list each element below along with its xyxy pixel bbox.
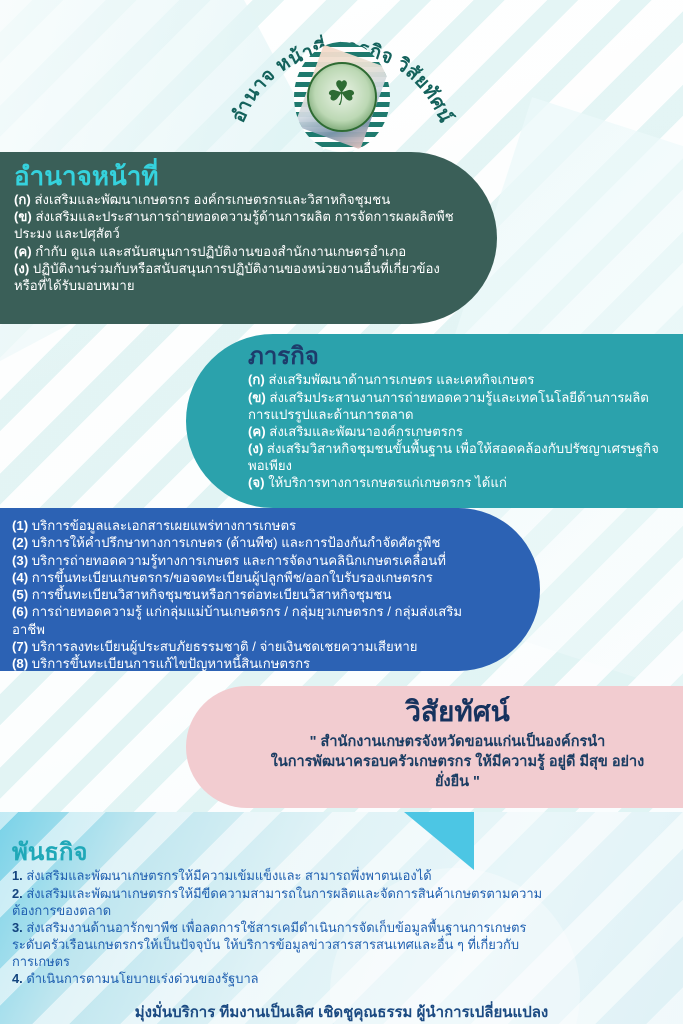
mission-item-marker: (ข): [248, 390, 266, 405]
authority-item: (ค) กำกับ ดูแล และสนับสนุนการปฏิบัติงานข…: [14, 243, 463, 260]
services-item-marker: (3): [12, 553, 28, 568]
services-item: (1) บริการข้อมูลและเอกสารเผยแพร่ทางการเก…: [12, 517, 494, 534]
mission-item-text: ส่งเสริมวิสาหกิจชุมชนขั้นพื้นฐาน เพื่อให…: [248, 441, 659, 473]
emblem-striped-oval: ☘: [294, 42, 390, 152]
emblem-group: อำนาจ หน้าที่ ภารกิจ วิสัยทัศน์ ☘: [227, 4, 457, 150]
ministry-seal-icon: ☘: [307, 62, 377, 132]
authority-item: (ง) ปฏิบัติงานร่วมกับหรือสนับสนุนการปฏิบ…: [14, 260, 463, 294]
authority-item-text: ส่งเสริมและประสานการถ่ายทอดความรู้ด้านกา…: [14, 209, 454, 241]
pledge-item-text: ส่งเสริมและพัฒนาเกษตรกรให้มีขีดความสามาร…: [12, 886, 542, 918]
vision-panel: วิสัยทัศน์ " สำนักงานเกษตรจังหวัดขอนแก่น…: [186, 686, 683, 808]
mission-title: ภารกิจ: [248, 344, 669, 370]
mission-item: (ข) ส่งเสริมประสานงานการถ่ายทอดความรู้แล…: [248, 389, 669, 423]
pledge-item: 4. ดำเนินการตามนโยบายเร่งด่วนของรัฐบาล: [12, 970, 546, 987]
mission-item-text: ส่งเสริมและพัฒนาองค์กรเกษตรกร: [269, 424, 463, 439]
pledge-item-text: ส่งเสริมงานด้านอารักขาพืช เพื่อลดการใช้ส…: [12, 920, 526, 969]
services-item-marker: (4): [12, 570, 28, 585]
authority-panel: อำนาจหน้าที่ (ก) ส่งเสริมและพัฒนาเกษตรกร…: [0, 152, 497, 324]
authority-item-marker: (ง): [14, 261, 29, 276]
pledge-title: พันธกิจ: [12, 840, 546, 866]
authority-item-marker: (ข): [14, 209, 32, 224]
authority-item-text: กำกับ ดูแล และสนับสนุนการปฏิบัติงานของสำ…: [35, 244, 406, 259]
services-item: (8) บริการขึ้นทะเบียนการแก้ไขปัญหาหนี้สิ…: [12, 655, 494, 672]
vision-title: วิสัยทัศน์: [256, 696, 659, 728]
authority-item: (ก) ส่งเสริมและพัฒนาเกษตรกร องค์กรเกษตรก…: [14, 191, 463, 208]
mission-item: (ค) ส่งเสริมและพัฒนาองค์กรเกษตรกร: [248, 423, 669, 440]
pledge-item-text: ส่งเสริมและพัฒนาเกษตรกรให้มีความเข้มแข็ง…: [26, 868, 431, 883]
services-item: (4) การขึ้นทะเบียนเกษตรกร/ขอจดทะเบียนผู้…: [12, 569, 494, 586]
services-panel: (1) บริการข้อมูลและเอกสารเผยแพร่ทางการเก…: [0, 508, 540, 671]
services-item: (2) บริการให้คำปรึกษาทางการเกษตร (ด้านพื…: [12, 534, 494, 551]
services-item-marker: (6): [12, 604, 28, 619]
pledge-item-text: ดำเนินการตามนโยบายเร่งด่วนของรัฐบาล: [26, 971, 258, 986]
pledge-item-marker: 1.: [12, 868, 23, 883]
footer-tagline: มุ่งมั่นบริการ ทีมงานเป็นเลิศ เชิดชูคุณธ…: [0, 1000, 683, 1024]
mission-panel: ภารกิจ (ก) ส่งเสริมพัฒนาด้านการเกษตร และ…: [186, 334, 683, 508]
services-item-marker: (1): [12, 518, 28, 533]
mission-item: (ก) ส่งเสริมพัฒนาด้านการเกษตร และเคหกิจเ…: [248, 371, 669, 388]
mission-item-marker: (จ): [248, 475, 265, 490]
pledge-item: 3. ส่งเสริมงานด้านอารักขาพืช เพื่อลดการใ…: [12, 919, 546, 970]
authority-item-text: ส่งเสริมและพัฒนาเกษตรกร องค์กรเกษตรกรและ…: [34, 192, 390, 207]
mission-item-text: ส่งเสริมประสานงานการถ่ายทอดความรู้และเทค…: [248, 390, 649, 422]
services-item-marker: (7): [12, 639, 28, 654]
infographic-page: อำนาจ หน้าที่ ภารกิจ วิสัยทัศน์ ☘ อำนาจห…: [0, 0, 683, 1024]
services-list: (1) บริการข้อมูลและเอกสารเผยแพร่ทางการเก…: [12, 517, 494, 673]
pledge-panel: พันธกิจ 1. ส่งเสริมและพัฒนาเกษตรกรให้มีค…: [0, 840, 560, 1000]
header: อำนาจ หน้าที่ ภารกิจ วิสัยทัศน์ ☘: [0, 0, 683, 152]
services-item-text: การขึ้นทะเบียนวิสาหกิจชุมชนหรือการต่อทะเ…: [32, 587, 392, 602]
mission-list: (ก) ส่งเสริมพัฒนาด้านการเกษตร และเคหกิจเ…: [248, 371, 669, 491]
vision-quote-line-1: " สำนักงานเกษตรจังหวัดขอนแก่นเป็นองค์กรน…: [256, 732, 659, 752]
services-item-marker: (5): [12, 587, 28, 602]
authority-title: อำนาจหน้าที่: [14, 162, 463, 190]
mission-item-marker: (ก): [248, 372, 265, 387]
mission-item-marker: (ง): [248, 441, 263, 456]
services-item-text: บริการให้คำปรึกษาทางการเกษตร (ด้านพืช) แ…: [32, 535, 441, 550]
pledge-item: 1. ส่งเสริมและพัฒนาเกษตรกรให้มีความเข้มแ…: [12, 867, 546, 884]
services-item-text: การถ่ายทอดความรู้ แก่กลุ่มแม่บ้านเกษตรกร…: [12, 604, 462, 636]
mission-item-text: ส่งเสริมพัฒนาด้านการเกษตร และเคหกิจเกษตร: [268, 372, 534, 387]
services-item-text: บริการลงทะเบียนผู้ประสบภัยธรรมชาติ / จ่า…: [32, 639, 418, 654]
services-item: (7) บริการลงทะเบียนผู้ประสบภัยธรรมชาติ /…: [12, 638, 494, 655]
pledge-item-marker: 2.: [12, 886, 23, 901]
services-item-text: บริการข้อมูลและเอกสารเผยแพร่ทางการเกษตร: [32, 518, 296, 533]
services-item: (5) การขึ้นทะเบียนวิสาหกิจชุมชนหรือการต่…: [12, 586, 494, 603]
authority-item-marker: (ค): [14, 244, 32, 259]
pledge-list: 1. ส่งเสริมและพัฒนาเกษตรกรให้มีความเข้มแ…: [12, 867, 546, 987]
mission-item-text: ให้บริการทางการเกษตรแก่เกษตรกร ได้แก่: [268, 475, 507, 490]
pledge-item-marker: 4.: [12, 971, 23, 986]
services-item-text: บริการขึ้นทะเบียนการแก้ไขปัญหาหนี้สินเกษ…: [32, 656, 310, 671]
vision-quote-line-2: ในการพัฒนาครอบครัวเกษตรกร ให้มีความรู้ อ…: [256, 752, 659, 792]
authority-list: (ก) ส่งเสริมและพัฒนาเกษตรกร องค์กรเกษตรก…: [14, 191, 463, 294]
pledge-item-marker: 3.: [12, 920, 23, 935]
services-item-text: บริการถ่ายทอดความรู้ทางการเกษตร และการจั…: [32, 553, 446, 568]
services-item: (3) บริการถ่ายทอดความรู้ทางการเกษตร และก…: [12, 552, 494, 569]
services-item-text: การขึ้นทะเบียนเกษตรกร/ขอจดทะเบียนผู้ปลูก…: [32, 570, 433, 585]
authority-item-marker: (ก): [14, 192, 31, 207]
authority-item-text: ปฏิบัติงานร่วมกับหรือสนับสนุนการปฏิบัติง…: [14, 261, 440, 293]
garuda-icon: ☘: [326, 77, 356, 111]
services-item-marker: (8): [12, 656, 28, 671]
services-item-marker: (2): [12, 535, 28, 550]
authority-item: (ข) ส่งเสริมและประสานการถ่ายทอดความรู้ด้…: [14, 208, 463, 242]
services-item: (6) การถ่ายทอดความรู้ แก่กลุ่มแม่บ้านเกษ…: [12, 603, 494, 638]
mission-item-marker: (ค): [248, 424, 266, 439]
mission-item: (ง) ส่งเสริมวิสาหกิจชุมชนขั้นพื้นฐาน เพื…: [248, 440, 669, 474]
mission-item: (จ) ให้บริการทางการเกษตรแก่เกษตรกร ได้แก…: [248, 474, 669, 491]
pledge-item: 2. ส่งเสริมและพัฒนาเกษตรกรให้มีขีดความสา…: [12, 885, 546, 919]
